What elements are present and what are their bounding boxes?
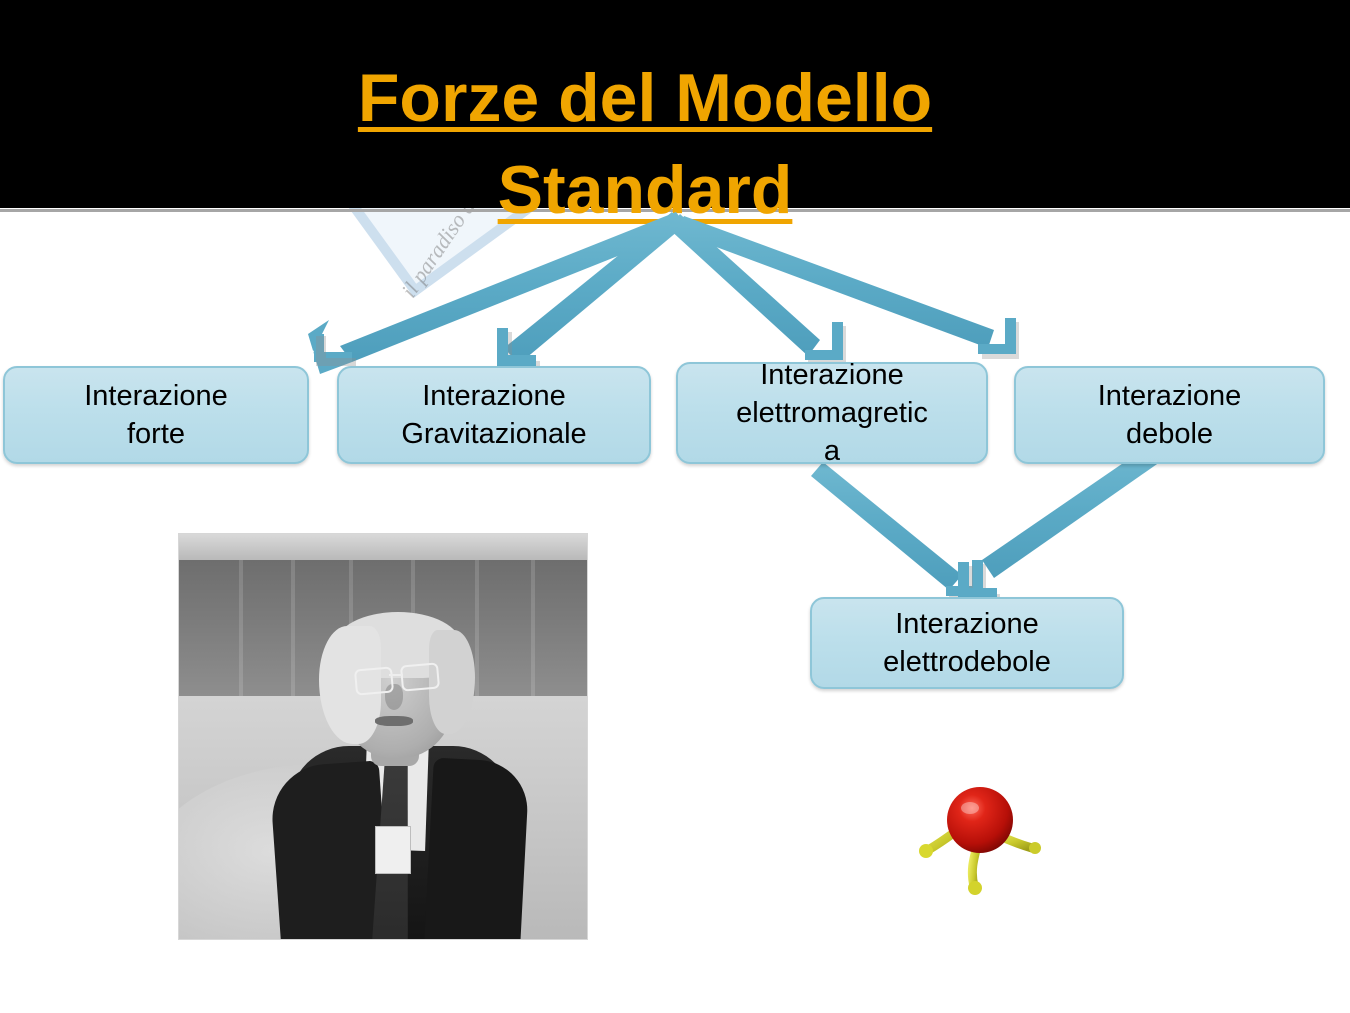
interazione-forte-box[interactable]: Interazione forte bbox=[3, 366, 309, 464]
interazione-elettromagretica-box[interactable]: Interazione elettromagretic a bbox=[676, 362, 988, 464]
photo-jacket-right bbox=[424, 758, 530, 940]
arrow-to-debole bbox=[676, 216, 1019, 359]
interazione-debole-box[interactable]: Interazione debole bbox=[1014, 366, 1325, 464]
arrow-em-to-elettrodebole bbox=[811, 462, 986, 600]
interazione-elettromagretica-label: Interazione elettromagretic a bbox=[686, 356, 978, 470]
photo-wall-stripe bbox=[291, 560, 295, 696]
molecule-atom bbox=[947, 787, 1013, 853]
photo-glasses-bridge bbox=[389, 674, 403, 676]
page-title-line-2: Standard bbox=[498, 152, 793, 228]
page-title-line-1: Forze del Modello bbox=[358, 60, 932, 136]
arrow-debole-to-elettrodebole bbox=[958, 446, 1160, 602]
interazione-elettrodebole-line2: elettrodebole bbox=[883, 646, 1051, 678]
photo-wall-stripe bbox=[239, 560, 243, 696]
interazione-debole-line2: debole bbox=[1126, 418, 1213, 450]
interazione-debole-line1: Interazione bbox=[1098, 380, 1242, 412]
arrow-to-forte bbox=[308, 212, 688, 374]
interazione-elettromagretica-line3: a bbox=[824, 435, 840, 467]
photo-wall-top bbox=[179, 534, 587, 560]
photo-jacket-left bbox=[269, 760, 391, 940]
molecule-highlight bbox=[961, 802, 979, 814]
photo-badge bbox=[375, 826, 411, 874]
arrow-to-elettromagnetica bbox=[668, 214, 846, 365]
page-title: Forze del Modello Standard bbox=[0, 52, 1290, 236]
interazione-elettrodebole-box[interactable]: Interazione elettrodebole bbox=[810, 597, 1124, 689]
photo-wall-stripe bbox=[475, 560, 479, 696]
speaker-photo bbox=[178, 533, 588, 940]
interazione-elettrodebole-line1: Interazione bbox=[895, 608, 1039, 640]
slide: Skuola.net il paradiso dello studente Fo… bbox=[0, 0, 1350, 1013]
interazione-elettrodebole-label: Interazione elettrodebole bbox=[820, 605, 1114, 681]
molecule-graphic bbox=[908, 778, 1068, 908]
interazione-forte-label: Interazione forte bbox=[13, 377, 299, 453]
photo-wall-stripe bbox=[531, 560, 535, 696]
interazione-gravitazionale-label: Interazione Gravitazionale bbox=[347, 377, 641, 453]
photo-glasses-left-lens bbox=[354, 666, 394, 695]
photo-glasses-right-lens bbox=[400, 662, 440, 691]
interazione-elettromagretica-line1: Interazione bbox=[760, 359, 904, 391]
interazione-gravitazionale-line2: Gravitazionale bbox=[401, 418, 586, 450]
interazione-forte-line1: Interazione bbox=[84, 380, 228, 412]
interazione-debole-label: Interazione debole bbox=[1024, 377, 1315, 453]
photo-mouth bbox=[375, 716, 413, 726]
interazione-elettromagretica-line2: elettromagretic bbox=[736, 397, 928, 429]
interazione-forte-line2: forte bbox=[127, 418, 185, 450]
interazione-gravitazionale-box[interactable]: Interazione Gravitazionale bbox=[337, 366, 651, 464]
interazione-gravitazionale-line1: Interazione bbox=[422, 380, 566, 412]
